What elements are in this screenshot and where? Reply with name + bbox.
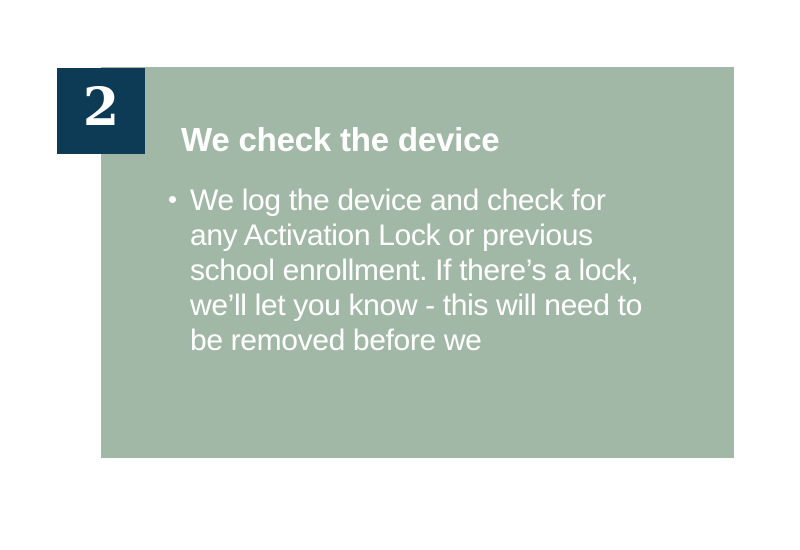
slide-canvas: 2 We check the device We log the device … (0, 0, 800, 550)
step-number-value: 2 (83, 82, 119, 134)
list-item-label: We log the device and check for any Acti… (190, 184, 642, 357)
step-number-badge: 2 (57, 68, 145, 154)
list-item: We log the device and check for any Acti… (168, 183, 648, 358)
bullet-dot-icon (169, 196, 176, 203)
body-bullet-list: We log the device and check for any Acti… (168, 183, 648, 358)
page-title: We check the device (181, 120, 681, 160)
